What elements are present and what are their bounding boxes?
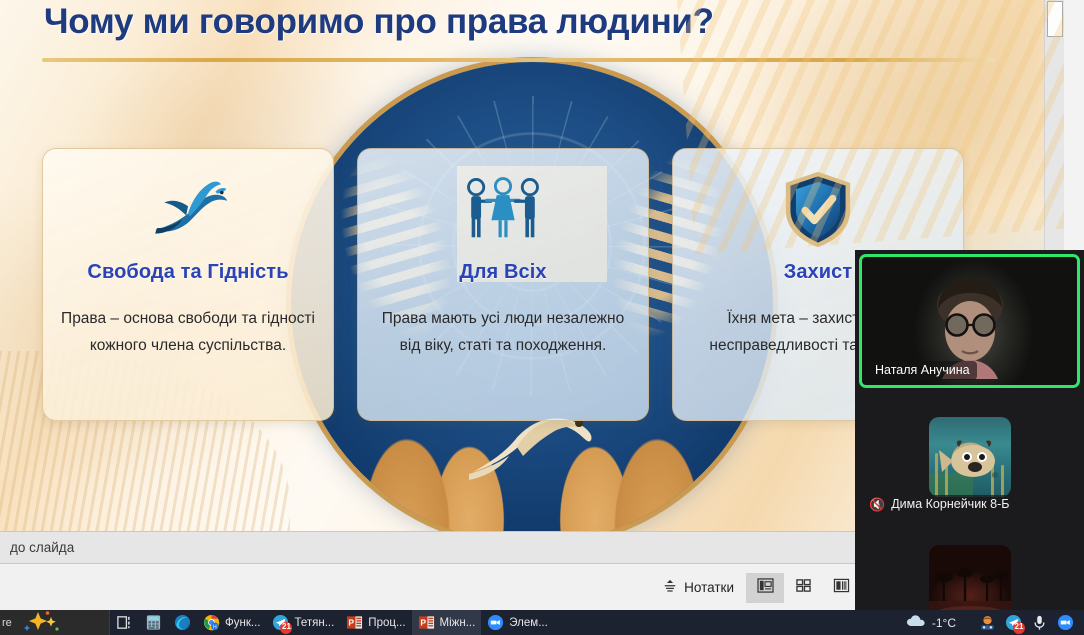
chrome-icon: Н: [203, 614, 220, 631]
taskbar-item-chrome[interactable]: Н Функ...: [197, 610, 266, 635]
taskbar-item-task-view[interactable]: [110, 610, 139, 635]
svg-text:P: P: [349, 618, 355, 628]
taskbar-item-label: Функ...: [225, 617, 260, 629]
system-tray: -1°C 21: [906, 614, 1084, 631]
notification-badge: 21: [1013, 622, 1025, 634]
participant-name-row: 🔇 Дима Корнейчик 8-Б: [861, 495, 1017, 514]
task-view-icon: [116, 614, 133, 631]
notes-button-label: Нотатки: [684, 580, 734, 595]
svg-text:Н: Н: [213, 624, 217, 630]
card-title: Свобода та Гідність: [59, 261, 317, 284]
notes-text: до слайда: [10, 540, 74, 555]
page-title: Чому ми говоримо про права людини?: [44, 2, 924, 42]
participant-tile-active[interactable]: Наталя Анучина: [859, 254, 1080, 388]
title-divider: [42, 58, 995, 62]
taskbar-item-edge[interactable]: [168, 610, 197, 635]
cloud-icon[interactable]: [906, 614, 923, 631]
people-group-icon: [374, 171, 632, 247]
participant-name: Дима Корнейчик 8-Б: [891, 497, 1009, 511]
telegram-tray-icon[interactable]: 21: [1005, 614, 1022, 631]
taskbar-item-label: Проц...: [368, 617, 405, 629]
copilot-widget[interactable]: re: [0, 610, 110, 635]
scrollbar-thumb[interactable]: [1047, 1, 1063, 37]
mic-off-icon: 🔇: [869, 498, 885, 511]
calculator-icon: [145, 614, 162, 631]
taskbar-item-label: Міжн...: [440, 617, 476, 629]
dj-app-icon[interactable]: [979, 614, 996, 631]
taskbar-item-telegram[interactable]: 21 Тетян...: [266, 610, 340, 635]
card-body: Права – основа свободи та гідності кожно…: [59, 306, 317, 359]
notes-button[interactable]: Нотатки: [651, 573, 746, 603]
shield-check-icon: [689, 171, 947, 247]
taskbar-item-powerpoint-2[interactable]: P Міжн...: [412, 610, 482, 635]
zoom-tray-icon[interactable]: [1057, 614, 1074, 631]
participant-name: Наталя Анучина: [868, 361, 977, 380]
edge-icon: [174, 614, 191, 631]
card-title: Для Всіх: [374, 261, 632, 284]
telegram-icon: 21: [272, 614, 289, 631]
widget-label: re: [2, 617, 12, 629]
microphone-icon[interactable]: [1031, 614, 1048, 631]
temperature-label: -1°C: [932, 616, 956, 630]
taskbar-item-zoom[interactable]: Элем...: [481, 610, 553, 635]
powerpoint-icon: P: [346, 614, 363, 631]
taskbar-item-label: Элем...: [509, 617, 547, 629]
dove-icon: [59, 171, 317, 247]
windows-taskbar: re: [0, 610, 1084, 635]
slide-sorter-button[interactable]: [784, 573, 822, 603]
taskbar-item-label: Тетян...: [294, 617, 334, 629]
taskbar-item-calculator[interactable]: [139, 610, 168, 635]
taskbar-item-powerpoint-1[interactable]: P Проц...: [340, 610, 411, 635]
reading-view-icon: [833, 578, 850, 598]
notes-icon: [663, 579, 677, 596]
screen-root: Чому ми говоримо про права людини? Свобо…: [0, 0, 1084, 635]
zoom-video-panel[interactable]: Наталя Анучина: [855, 250, 1084, 635]
copilot-sparkle-icon: [16, 609, 60, 635]
slide-sorter-icon: [795, 578, 812, 598]
pug-fish-avatar: [929, 417, 1011, 497]
zoom-icon: [487, 614, 504, 631]
card-body: Права мають усі люди незалежно від віку,…: [374, 306, 632, 359]
card-for-all[interactable]: Для Всіх Права мають усі люди незалежно …: [357, 148, 649, 421]
card-freedom-dignity[interactable]: Свобода та Гідність Права – основа свобо…: [42, 148, 334, 421]
normal-view-icon: [757, 578, 774, 598]
notification-badge: 21: [280, 622, 292, 634]
participant-tile[interactable]: 🔇 Дима Корнейчик 8-Б: [855, 398, 1084, 516]
normal-view-button[interactable]: [746, 573, 784, 603]
powerpoint-icon: P: [418, 614, 435, 631]
svg-text:P: P: [420, 618, 426, 628]
